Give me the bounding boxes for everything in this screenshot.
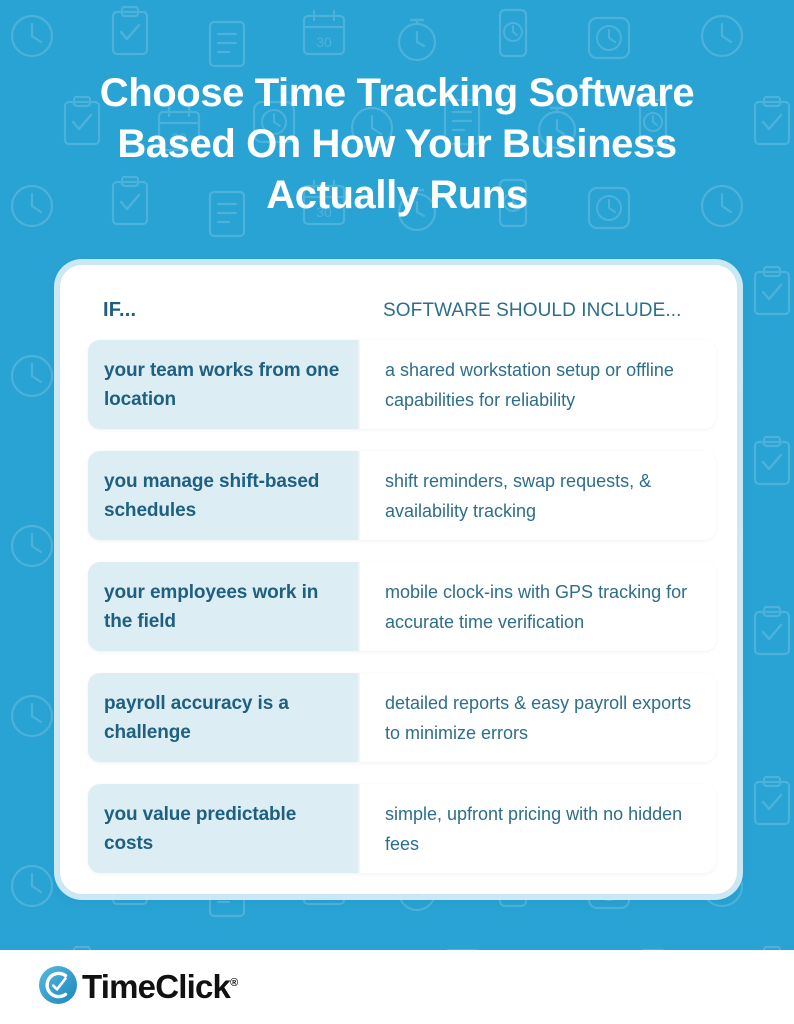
table-header-row: IF... SOFTWARE SHOULD INCLUDE... <box>60 299 737 329</box>
table-row: your employees work in the field mobile … <box>88 562 716 651</box>
cell-software-text: mobile clock-ins with GPS tracking for a… <box>385 577 702 637</box>
title-line-3: Actually Runs <box>30 170 764 221</box>
cell-software-text: detailed reports & easy payroll exports … <box>385 688 702 748</box>
brand-name-text: TimeClick <box>82 968 230 1005</box>
title-line-2: Based On How Your Business <box>30 119 764 170</box>
cell-software: detailed reports & easy payroll exports … <box>358 673 716 762</box>
registered-trademark-symbol: ® <box>230 977 238 989</box>
cell-if-text: you value predictable costs <box>104 800 342 858</box>
column-header-software: SOFTWARE SHOULD INCLUDE... <box>383 300 682 322</box>
cell-if-text: you manage shift-based schedules <box>104 467 342 525</box>
page-title: Choose Time Tracking Software Based On H… <box>0 68 794 221</box>
cell-if: your employees work in the field <box>88 562 358 651</box>
table-row: your team works from one location a shar… <box>88 340 716 429</box>
title-line-1: Choose Time Tracking Software <box>30 68 764 119</box>
cell-if: you value predictable costs <box>88 784 358 873</box>
cell-software: simple, upfront pricing with no hidden f… <box>358 784 716 873</box>
cell-if: payroll accuracy is a challenge <box>88 673 358 762</box>
footer: TimeClick® <box>0 950 794 1024</box>
cell-software: a shared workstation setup or offline ca… <box>358 340 716 429</box>
timeclick-circle-check-icon <box>38 965 78 1005</box>
cell-if-text: your team works from one location <box>104 356 342 414</box>
brand-name: TimeClick® <box>82 966 238 1004</box>
table-row: payroll accuracy is a challenge detailed… <box>88 673 716 762</box>
table-row: you value predictable costs simple, upfr… <box>88 784 716 873</box>
cell-software: mobile clock-ins with GPS tracking for a… <box>358 562 716 651</box>
cell-if: you manage shift-based schedules <box>88 451 358 540</box>
hero-background: 30 <box>0 0 794 950</box>
cell-software: shift reminders, swap requests, & availa… <box>358 451 716 540</box>
column-header-if: IF... <box>103 299 136 322</box>
table-body: your team works from one location a shar… <box>88 340 716 873</box>
cell-if-text: your employees work in the field <box>104 578 342 636</box>
cell-software-text: shift reminders, swap requests, & availa… <box>385 466 702 526</box>
cell-if-text: payroll accuracy is a challenge <box>104 689 342 747</box>
comparison-card: IF... SOFTWARE SHOULD INCLUDE... your te… <box>60 265 737 894</box>
cell-software-text: simple, upfront pricing with no hidden f… <box>385 799 702 859</box>
cell-if: your team works from one location <box>88 340 358 429</box>
cell-software-text: a shared workstation setup or offline ca… <box>385 355 702 415</box>
table-row: you manage shift-based schedules shift r… <box>88 451 716 540</box>
timeclick-logo: TimeClick® <box>38 965 238 1005</box>
